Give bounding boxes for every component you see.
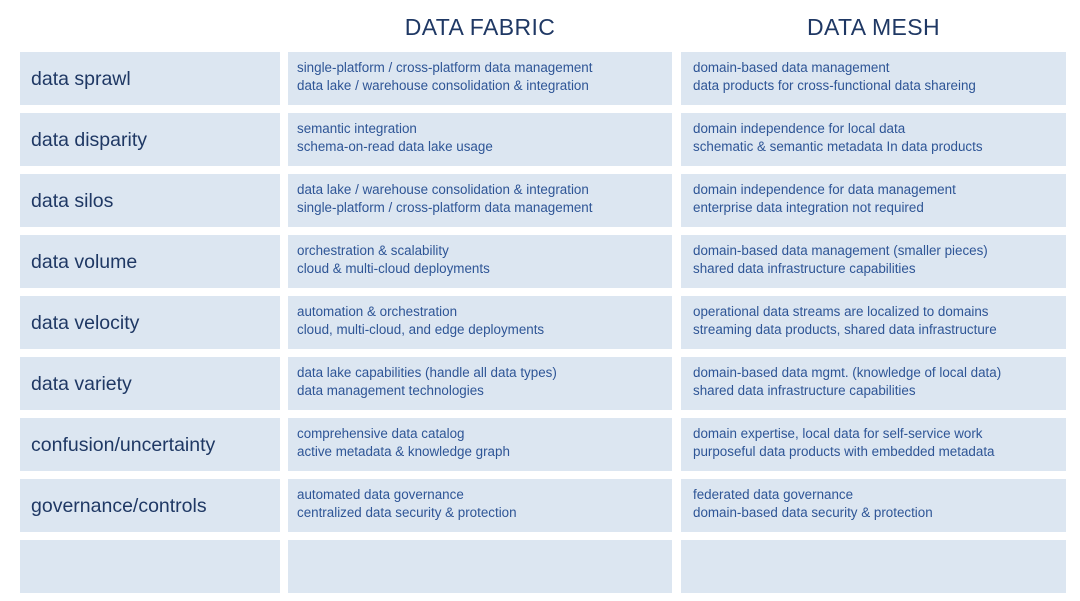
- challenge-label: data volume: [31, 250, 137, 274]
- detail-line: orchestration & scalability: [297, 242, 662, 260]
- detail-line: domain-based data security & protection: [693, 504, 1056, 522]
- challenge-label: data sprawl: [31, 67, 131, 91]
- table-body: data sprawlsingle-platform / cross-platf…: [0, 52, 1080, 601]
- detail-line: streaming data products, shared data inf…: [693, 321, 1056, 339]
- cell-challenge-label: data disparity: [20, 113, 280, 166]
- table-row: data silosdata lake / warehouse consolid…: [0, 174, 1080, 227]
- detail-line: domain-based data management (smaller pi…: [693, 242, 1056, 260]
- detail-line: cloud, multi-cloud, and edge deployments: [297, 321, 662, 339]
- column-header-data-fabric: DATA FABRIC: [288, 13, 672, 41]
- detail-line: domain expertise, local data for self-se…: [693, 425, 1056, 443]
- cell-fabric: comprehensive data catalogactive metadat…: [288, 418, 672, 471]
- cell-fabric: single-platform / cross-platform data ma…: [288, 52, 672, 105]
- challenge-label: data disparity: [31, 128, 147, 152]
- table-row: data volumeorchestration & scalabilitycl…: [0, 235, 1080, 288]
- cell-challenge-label: data variety: [20, 357, 280, 410]
- detail-line: schematic & semantic metadata In data pr…: [693, 138, 1056, 156]
- detail-line: data products for cross-functional data …: [693, 77, 1056, 95]
- detail-line: operational data streams are localized t…: [693, 303, 1056, 321]
- detail-line: data lake / warehouse consolidation & in…: [297, 181, 662, 199]
- cell-mesh: domain-based data management (smaller pi…: [681, 235, 1066, 288]
- cell-mesh: federated data governancedomain-based da…: [681, 479, 1066, 532]
- table-row-clipped: [0, 540, 1080, 593]
- detail-line: domain-based data mgmt. (knowledge of lo…: [693, 364, 1056, 382]
- challenge-label: confusion/uncertainty: [31, 433, 215, 457]
- cell-fabric: data lake / warehouse consolidation & in…: [288, 174, 672, 227]
- cell-label-clipped: [20, 540, 280, 593]
- challenge-label: data silos: [31, 189, 113, 213]
- cell-mesh: operational data streams are localized t…: [681, 296, 1066, 349]
- table-row: data disparitysemantic integrationschema…: [0, 113, 1080, 166]
- detail-line: active metadata & knowledge graph: [297, 443, 662, 461]
- challenge-label: data velocity: [31, 311, 139, 335]
- cell-mesh-clipped: [681, 540, 1066, 593]
- detail-line: single-platform / cross-platform data ma…: [297, 59, 662, 77]
- column-header-data-mesh: DATA MESH: [681, 13, 1066, 41]
- table-row: governance/controlsautomated data govern…: [0, 479, 1080, 532]
- cell-mesh: domain expertise, local data for self-se…: [681, 418, 1066, 471]
- detail-line: automated data governance: [297, 486, 662, 504]
- cell-mesh: domain independence for local dataschema…: [681, 113, 1066, 166]
- detail-line: cloud & multi-cloud deployments: [297, 260, 662, 278]
- table-row: confusion/uncertaintycomprehensive data …: [0, 418, 1080, 471]
- detail-line: shared data infrastructure capabilities: [693, 260, 1056, 278]
- detail-line: shared data infrastructure capabilities: [693, 382, 1056, 400]
- table-header-row: DATA FABRIC DATA MESH: [0, 0, 1080, 52]
- detail-line: domain independence for data management: [693, 181, 1056, 199]
- cell-fabric: automation & orchestrationcloud, multi-c…: [288, 296, 672, 349]
- cell-mesh: domain-based data managementdata product…: [681, 52, 1066, 105]
- table-row: data varietydata lake capabilities (hand…: [0, 357, 1080, 410]
- cell-fabric: orchestration & scalabilitycloud & multi…: [288, 235, 672, 288]
- cell-challenge-label: data sprawl: [20, 52, 280, 105]
- detail-line: data management technologies: [297, 382, 662, 400]
- detail-line: enterprise data integration not required: [693, 199, 1056, 217]
- detail-line: schema-on-read data lake usage: [297, 138, 662, 156]
- table-row: data velocityautomation & orchestrationc…: [0, 296, 1080, 349]
- comparison-table: DATA FABRIC DATA MESH data sprawlsingle-…: [0, 0, 1080, 547]
- cell-challenge-label: governance/controls: [20, 479, 280, 532]
- detail-line: centralized data security & protection: [297, 504, 662, 522]
- detail-line: domain independence for local data: [693, 120, 1056, 138]
- challenge-label: governance/controls: [31, 494, 207, 518]
- cell-challenge-label: confusion/uncertainty: [20, 418, 280, 471]
- cell-fabric: data lake capabilities (handle all data …: [288, 357, 672, 410]
- detail-line: semantic integration: [297, 120, 662, 138]
- cell-fabric-clipped: [288, 540, 672, 593]
- detail-line: domain-based data management: [693, 59, 1056, 77]
- challenge-label: data variety: [31, 372, 132, 396]
- detail-line: data lake capabilities (handle all data …: [297, 364, 662, 382]
- cell-mesh: domain independence for data managemente…: [681, 174, 1066, 227]
- cell-mesh: domain-based data mgmt. (knowledge of lo…: [681, 357, 1066, 410]
- detail-line: comprehensive data catalog: [297, 425, 662, 443]
- cell-challenge-label: data silos: [20, 174, 280, 227]
- detail-line: purposeful data products with embedded m…: [693, 443, 1056, 461]
- cell-fabric: semantic integrationschema-on-read data …: [288, 113, 672, 166]
- detail-line: data lake / warehouse consolidation & in…: [297, 77, 662, 95]
- cell-challenge-label: data volume: [20, 235, 280, 288]
- detail-line: single-platform / cross-platform data ma…: [297, 199, 662, 217]
- cell-challenge-label: data velocity: [20, 296, 280, 349]
- detail-line: federated data governance: [693, 486, 1056, 504]
- cell-fabric: automated data governancecentralized dat…: [288, 479, 672, 532]
- table-row: data sprawlsingle-platform / cross-platf…: [0, 52, 1080, 105]
- detail-line: automation & orchestration: [297, 303, 662, 321]
